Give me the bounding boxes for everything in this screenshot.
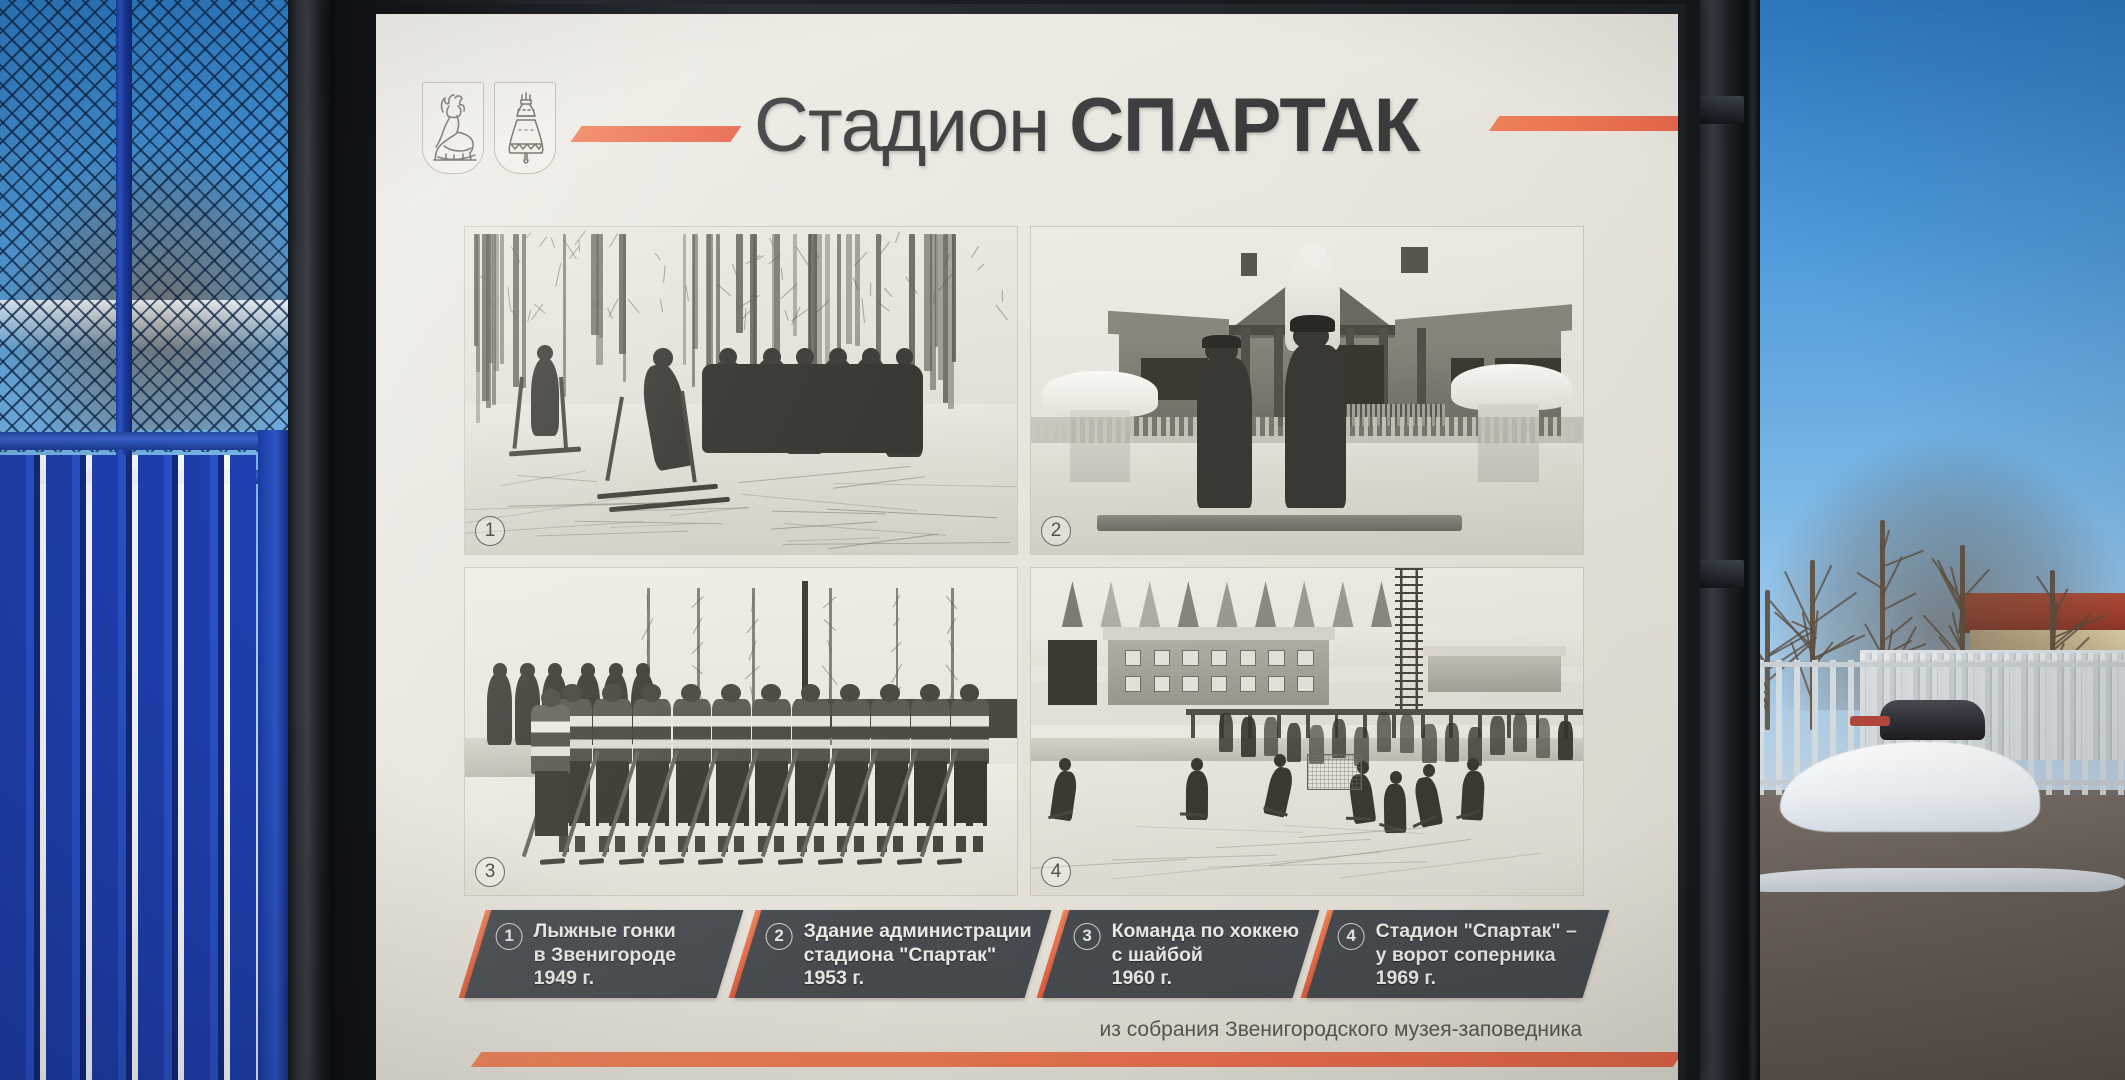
caption-item: 2Здание администрациистадиона "Спартак"1…	[735, 910, 1052, 998]
birch-trunk	[623, 234, 627, 382]
title-bold-part: СПАРТАК	[1069, 83, 1419, 168]
porch-column	[1274, 328, 1283, 426]
photo-2-art	[1031, 227, 1583, 554]
spectator-crowd-mass	[702, 364, 923, 452]
photo-1-art	[465, 227, 1017, 554]
hockey-skater-head	[1390, 771, 1402, 784]
building-window	[1125, 676, 1142, 692]
sign-board-face: Стадион СПАРТАК 1	[376, 14, 1678, 1080]
caption-item: 4Стадион "Спартак" –у ворот соперника196…	[1307, 910, 1610, 998]
title-accent-stripe-right	[1489, 116, 1678, 131]
spectator-head	[896, 348, 914, 366]
gate-post-vertical	[116, 0, 132, 460]
hockey-player-leg	[933, 823, 943, 852]
hockey-player-front-shorts	[535, 771, 568, 836]
hockey-stick	[1346, 816, 1371, 819]
photo-number-badge: 4	[1041, 857, 1071, 887]
birch-trunk	[476, 234, 480, 423]
spectator-figure	[487, 673, 512, 745]
building-window	[1182, 676, 1199, 692]
caption-item: 1Лыжные гонкив Звенигороде1949 г.	[465, 910, 744, 998]
caption-lines: Здание администрациистадиона "Спартак"19…	[804, 920, 1068, 991]
spectator-head	[796, 348, 814, 366]
hockey-goal-net	[1307, 754, 1362, 790]
hockey-player-jersey	[712, 699, 751, 764]
fence-rail-top	[1740, 662, 2125, 667]
photo-number-badge: 1	[475, 516, 505, 546]
birch-trunk	[500, 234, 504, 364]
caption-row: 1Лыжные гонкив Звенигороде1949 г.2Здание…	[464, 910, 1594, 1006]
building-window	[1125, 650, 1142, 666]
building-window	[1268, 676, 1285, 692]
gate-hinge-top	[1700, 96, 1744, 124]
gate-hinge-bottom	[1700, 560, 1744, 588]
photo-4-hockey-match: 4	[1030, 567, 1584, 896]
hockey-player-head	[562, 684, 582, 702]
sign-frame-post-left	[288, 0, 334, 1080]
caption-line: стадиона "Спартак"	[804, 944, 1068, 968]
photo-4-art	[1031, 568, 1583, 895]
spectator-head	[636, 663, 650, 678]
caption-number-badge: 1	[496, 923, 523, 950]
spectator-figure	[1400, 714, 1414, 753]
hockey-player-leg	[893, 823, 903, 852]
photo-1-ski-race: 1	[464, 226, 1018, 555]
spectator-head	[609, 663, 623, 678]
hockey-player-jersey	[673, 699, 712, 764]
caption-item: 3Команда по хоккеюс шайбой1960 г.	[1043, 910, 1320, 998]
hockey-player-jersey	[832, 699, 871, 764]
building-window	[1211, 676, 1228, 692]
spectator-figure	[1219, 713, 1233, 752]
spectator-figure	[1490, 716, 1504, 755]
caption-inner: 4Стадион "Спартак" –у ворот соперника196…	[1340, 920, 1640, 991]
hockey-player-head	[761, 684, 781, 702]
hockey-player-leg	[734, 823, 744, 852]
hockey-player-shorts	[954, 761, 987, 826]
birch-trunk	[599, 234, 603, 339]
caption-number-badge: 3	[1074, 923, 1101, 950]
chimney	[1241, 253, 1258, 276]
spectator-figure	[1558, 721, 1572, 760]
spectator-head	[862, 348, 880, 366]
hockey-player-leg	[655, 823, 665, 852]
title-accent-stripe-left	[570, 126, 741, 142]
gate-rail-upper	[0, 432, 290, 450]
spectator-figure	[1513, 713, 1527, 752]
caption-lines: Стадион "Спартак" –у ворот соперника1969…	[1376, 920, 1640, 991]
hockey-skater-head	[1191, 758, 1203, 771]
footer-accent-stripe	[471, 1052, 1678, 1067]
hockey-skater-head	[1467, 758, 1479, 771]
source-credit: из собрания Звенигородского музея-запове…	[1100, 1018, 1583, 1042]
hockey-player-jersey	[871, 699, 910, 764]
photo-number-badge: 3	[475, 857, 505, 887]
building-window	[1240, 676, 1257, 692]
birch-trunk	[693, 234, 699, 350]
spectator-figure	[1332, 719, 1346, 758]
spectator-figure	[1264, 717, 1278, 756]
birch-trunk	[563, 234, 567, 398]
far-building-roof	[1423, 646, 1567, 656]
urn-pedestal-right	[1478, 404, 1539, 482]
spectator-head	[829, 348, 847, 366]
building-snow-roof	[1103, 627, 1335, 640]
far-building-right	[1428, 653, 1560, 692]
spectator-figure	[1536, 718, 1550, 757]
spectator-figure	[1422, 724, 1436, 763]
caption-number-badge: 4	[1338, 923, 1365, 950]
hockey-player-head	[721, 684, 741, 702]
birch-trunk	[591, 234, 599, 336]
birch-trunk	[492, 234, 496, 405]
skier-figure	[531, 358, 559, 436]
hockey-player-leg	[774, 823, 784, 852]
caption-line: Здание администрации	[804, 920, 1068, 944]
hockey-skater-head	[1059, 758, 1071, 771]
skier-head	[653, 348, 673, 368]
man-left-hat	[1202, 335, 1241, 348]
building-window	[1268, 650, 1285, 666]
lattice-mast	[1395, 568, 1423, 712]
caption-line: 1953 г.	[804, 967, 1068, 991]
birch-trunk	[952, 234, 956, 363]
chainlink-mesh-overlay	[0, 0, 300, 452]
hockey-player-head	[602, 684, 622, 702]
caption-line: 1969 г.	[1376, 967, 1640, 991]
spectator-figure	[1445, 723, 1459, 762]
title-regular-part: Стадион	[754, 83, 1069, 168]
caption-number-badge: 2	[766, 923, 793, 950]
cleared-path	[1097, 515, 1461, 531]
man-right-ushanka	[1290, 315, 1334, 331]
birch-trunk	[482, 234, 489, 401]
man-left-figure	[1197, 358, 1252, 508]
photo-3-art	[465, 568, 1017, 895]
caption-line: Стадион "Спартак" –	[1376, 920, 1640, 944]
building-window	[1297, 650, 1314, 666]
hockey-player-head	[880, 684, 900, 702]
birch-trunk	[683, 234, 687, 366]
spectator-head	[520, 663, 534, 678]
sign-frame-post-right-inner	[1746, 0, 1760, 1080]
birch-trunk	[522, 234, 526, 389]
birch-trunk	[924, 234, 932, 372]
caption-line: у ворот соперника	[1376, 944, 1640, 968]
dark-tower	[1048, 640, 1098, 705]
caption-inner: 2Здание администрациистадиона "Спартак"1…	[768, 920, 1068, 991]
hockey-player-leg	[973, 823, 983, 852]
stadium-building	[1108, 633, 1329, 705]
building-window	[1154, 650, 1171, 666]
spectator-head	[719, 348, 737, 366]
spectator-figure	[1377, 712, 1391, 751]
building-window	[1240, 650, 1257, 666]
spectator-head	[493, 663, 507, 678]
birch-branch	[578, 240, 580, 252]
photo-grid: 1 2 3	[464, 226, 1584, 896]
photo-scene: Стадион СПАРТАК 1	[0, 0, 2125, 1080]
photo-3-hockey-team: 3	[464, 567, 1018, 896]
spectator-head	[763, 348, 781, 366]
birch-trunk	[846, 234, 853, 345]
spectator-head	[548, 663, 562, 678]
blue-gate-edge[interactable]	[258, 430, 288, 1080]
building-window	[1154, 676, 1171, 692]
asphalt-ground	[1740, 790, 2125, 1080]
bell-coat-of-arms-icon	[494, 82, 556, 174]
hockey-player-leg	[956, 823, 966, 852]
hockey-player-leg	[695, 823, 705, 852]
hockey-player-leg	[575, 823, 585, 852]
hockey-player-leg	[814, 823, 824, 852]
building-window	[1182, 650, 1199, 666]
photo-2-admin-building: 2	[1030, 226, 1584, 555]
hockey-player-head	[920, 684, 940, 702]
spectator-head	[581, 663, 595, 678]
hockey-player-leg	[854, 823, 864, 852]
spectator-figure	[1241, 717, 1255, 756]
hockey-player-front	[531, 705, 570, 774]
man-right-figure	[1285, 345, 1346, 509]
parked-car	[1880, 700, 1985, 740]
blue-gate-slats[interactable]	[0, 455, 256, 1080]
chimney	[1401, 247, 1429, 273]
building-window	[1211, 650, 1228, 666]
photo-number-badge: 2	[1041, 516, 1071, 546]
snow-strip	[1735, 868, 2125, 892]
spectator-figure	[1287, 723, 1301, 762]
birch-trunk	[706, 234, 713, 378]
hockey-player-leg	[615, 823, 625, 852]
sign-header: Стадион СПАРТАК	[416, 76, 1646, 186]
page-title: Стадион СПАРТАК	[754, 82, 1419, 169]
building-window	[1297, 676, 1314, 692]
zvenigorod-deer-coat-of-arms-icon	[422, 82, 484, 174]
